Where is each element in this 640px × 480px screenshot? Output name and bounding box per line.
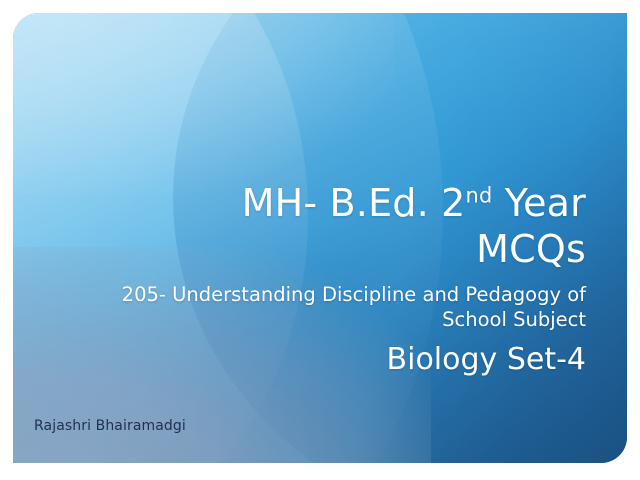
slide-title-line-2: MCQs — [476, 227, 586, 271]
slide-set-line: Biology Set-4 — [116, 341, 586, 379]
slide-canvas: MH- B.Ed. 2nd YearMCQs 205- Understandin… — [13, 13, 627, 463]
slide-page: MH- B.Ed. 2nd YearMCQs 205- Understandin… — [0, 0, 640, 480]
slide-title: MH- B.Ed. 2nd YearMCQs — [116, 180, 586, 272]
slide-title-ordinal-suffix: nd — [466, 183, 493, 207]
background-top-highlight — [13, 13, 394, 193]
title-text-block: MH- B.Ed. 2nd YearMCQs 205- Understandin… — [116, 180, 586, 379]
author-name: Rajashri Bhairamadgi — [34, 417, 186, 435]
slide-subtitle: 205- Understanding Discipline and Pedago… — [116, 282, 586, 332]
slide-title-part-2: Year — [492, 181, 586, 225]
slide-title-part-1: MH- B.Ed. 2 — [242, 181, 466, 225]
